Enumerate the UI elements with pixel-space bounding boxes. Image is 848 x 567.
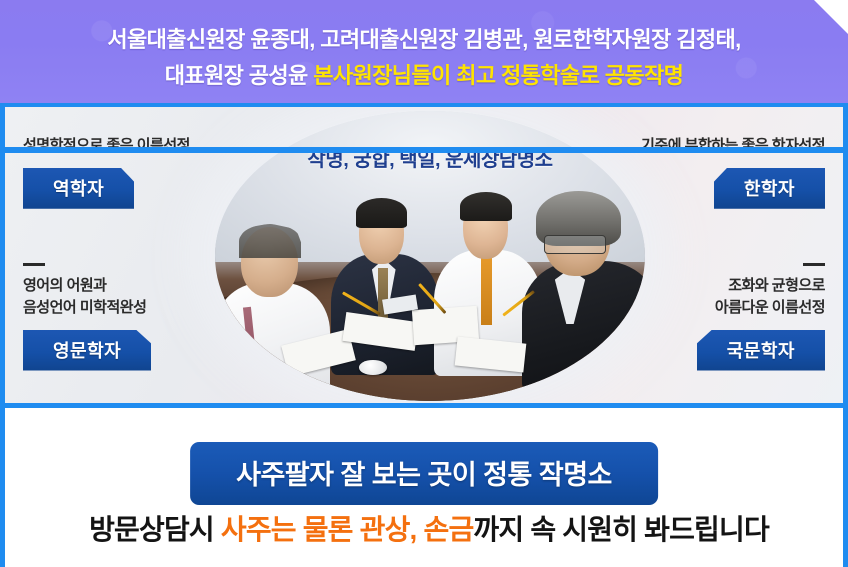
badge-hanhakja[interactable]: 한학자 (714, 168, 825, 209)
table-object-dish (359, 360, 387, 375)
feature-caption: 조화와 균형으로 아름다운 이름선정 (697, 275, 825, 319)
header-line-1: 서울대출신원장 윤종대, 고려대출신원장 김병관, 원로한학자원장 김정태, (0, 22, 848, 54)
feature-block-bottom-right: 조화와 균형으로 아름다운 이름선정 국문학자 (697, 263, 825, 371)
banner-bottom-panel: 사주팔자 잘 보는 곳이 정통 작명소 방문상담시 사주는 물론 관상, 손금까… (0, 408, 848, 567)
tagline-part-3: 까지 속 시원히 봐드립니다 (473, 514, 769, 545)
feature-block-bottom-left: 영어의 어원과 음성언어 미학적완성 영문학자 (23, 263, 151, 371)
dash-rule-icon (803, 263, 825, 266)
feature-caption: 영어의 어원과 음성언어 미학적완성 (23, 275, 151, 319)
middle-bottom-rule (5, 403, 848, 408)
caption-line: 음성언어 미학적완성 (23, 299, 146, 316)
middle-top-rule (5, 103, 848, 107)
promo-banner: 서울대출신원장 윤종대, 고려대출신원장 김병관, 원로한학자원장 김정태, 대… (0, 0, 848, 567)
tagline-part-1: 방문상담시 (89, 514, 221, 545)
person-hair (460, 192, 512, 221)
caption-line: 아름다운 이름선정 (715, 299, 825, 316)
feature-caption: 기준에 부합하는 좋은 한자선정 (641, 135, 825, 157)
bottom-divider-rule (0, 147, 848, 153)
header-line-2-plain: 대표원장 공성윤 (165, 63, 314, 88)
bottom-tagline: 방문상담시 사주는 물론 관상, 손금까지 속 시원히 봐드립니다 (5, 508, 848, 548)
header-line-2: 대표원장 공성윤 본사원장님들이 최고 정통학술로 공동작명 (0, 58, 848, 90)
caption-line: 조화와 균형으로 (728, 277, 825, 294)
person-hair (239, 224, 302, 259)
badge-gukmunhakja[interactable]: 국문학자 (697, 330, 825, 371)
badge-yeongmunhakja[interactable]: 영문학자 (23, 330, 151, 371)
bottom-edge-strip (0, 560, 848, 567)
caption-line: 영어의 어원과 (23, 277, 106, 294)
cta-button[interactable]: 사주팔자 잘 보는 곳이 정통 작명소 (190, 442, 658, 505)
badge-yeokhakja[interactable]: 역학자 (23, 168, 134, 209)
page-fold-corner-icon (814, 0, 848, 34)
banner-header: 서울대출신원장 윤종대, 고려대출신원장 김병관, 원로한학자원장 김정태, 대… (0, 0, 848, 103)
dash-rule-icon (23, 263, 45, 266)
tagline-highlight: 사주는 물론 관상, 손금 (221, 514, 474, 545)
person-hair (356, 198, 408, 228)
person-left-elder (219, 227, 339, 401)
feature-caption: 성명학적으로 좋은 이름선정 (23, 135, 190, 157)
header-line-2-highlight: 본사원장님들이 최고 정통학술로 공동작명 (313, 63, 683, 88)
person-tie (481, 257, 493, 325)
eyeglasses-icon (544, 235, 607, 254)
person-right-gray-hair (525, 198, 645, 384)
